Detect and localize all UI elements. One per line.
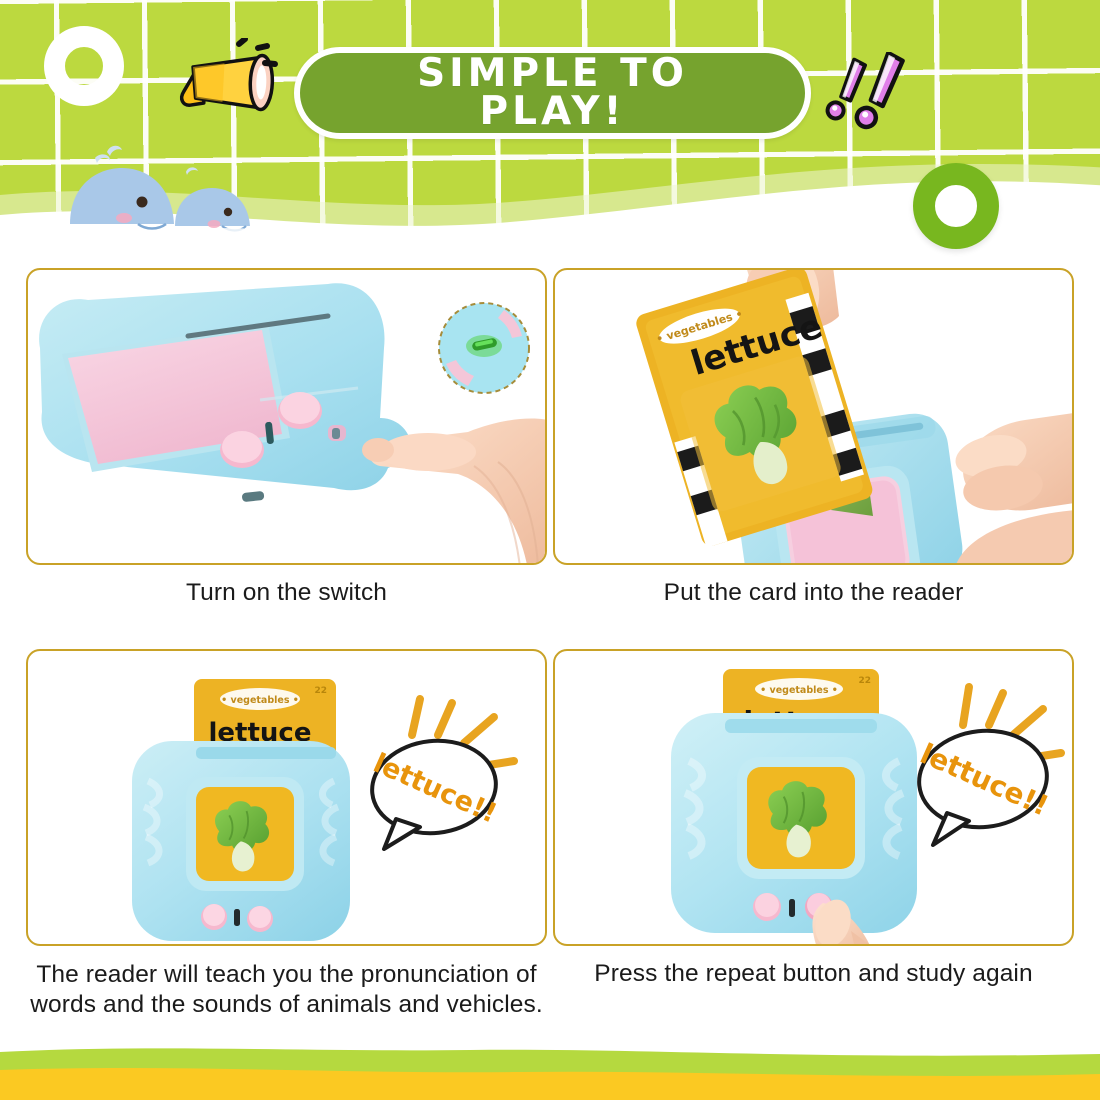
reader-with-card-illustration-4: • vegetables • 22 lettuce	[555, 651, 1074, 946]
switch-magnifier-callout	[434, 298, 534, 398]
step-3-caption: The reader will teach you the pronunciat…	[26, 960, 547, 1021]
step-1-photo	[26, 268, 547, 565]
whales-decoration	[62, 138, 292, 253]
footer-wave	[0, 1030, 1100, 1100]
steps-row-1: Turn on the switch	[0, 268, 1100, 608]
step-1: Turn on the switch	[26, 268, 547, 608]
page-title-pill: SIMPLE TO PLAY!	[294, 47, 811, 139]
steps-grid: Turn on the switch	[0, 268, 1100, 1021]
step-3-photo: • vegetables • 22 lettuce	[26, 649, 547, 946]
product-infographic-page: SIMPLE TO PLAY!	[0, 0, 1100, 1100]
card-insert-illustration: • vegetables • lettuce	[555, 270, 1074, 565]
step-4-photo: • vegetables • 22 lettuce	[553, 649, 1074, 946]
step-2: • vegetables • lettuce	[553, 268, 1074, 608]
steps-row-2: • vegetables • 22 lettuce	[0, 649, 1100, 1021]
svg-text:• vegetables •: • vegetables •	[760, 685, 838, 696]
white-ring-decoration	[44, 26, 124, 106]
svg-text:• vegetables •: • vegetables •	[221, 695, 299, 706]
step-4-caption: Press the repeat button and study again	[553, 960, 1074, 989]
reader-with-card-illustration-3: • vegetables • 22 lettuce	[28, 651, 547, 946]
step-1-caption: Turn on the switch	[26, 579, 547, 608]
speech-bubble-step4: lettuce!!	[914, 687, 1061, 845]
svg-text:22: 22	[314, 686, 327, 696]
page-title: SIMPLE TO PLAY!	[417, 55, 688, 131]
step-2-caption: Put the card into the reader	[553, 579, 1074, 608]
megaphone-icon	[168, 38, 283, 133]
svg-text:22: 22	[858, 676, 871, 686]
green-ring-decoration	[913, 163, 999, 249]
step-2-photo: • vegetables • lettuce	[553, 268, 1074, 565]
header-banner: SIMPLE TO PLAY!	[0, 0, 1100, 258]
speech-bubble-step3: lettuce!!	[368, 699, 514, 849]
step-4: • vegetables • 22 lettuce	[553, 649, 1074, 1021]
exclamation-marks-icon	[820, 52, 930, 152]
step-3: • vegetables • 22 lettuce	[26, 649, 547, 1021]
footer-bands	[0, 1030, 1100, 1100]
